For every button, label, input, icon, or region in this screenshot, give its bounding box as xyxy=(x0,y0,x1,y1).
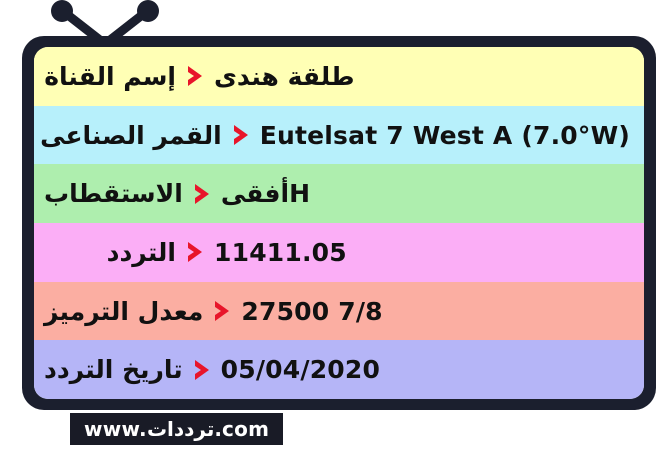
value-polarization: أفقى xyxy=(221,181,289,206)
screenshot-root: www.ترددات.com www.ترددات.com www.ترددات… xyxy=(0,0,669,451)
row-channel-name: إسم القناة طلقة هندى xyxy=(34,47,644,106)
row-frequency: التردد 11411.05 xyxy=(34,223,644,282)
value-satellite: Eutelsat 7 West A (7.0°W) xyxy=(260,123,630,148)
brand-text: www.ترددات.com xyxy=(84,417,269,441)
value-channel-name: طلقة هندى xyxy=(214,64,355,89)
value-frequency-date: 05/04/2020 xyxy=(221,357,380,382)
red-chevron-right-icon xyxy=(191,357,213,383)
tv-screen: www.ترددات.com www.ترددات.com www.ترددات… xyxy=(34,47,644,399)
red-chevron-right-icon xyxy=(230,122,252,148)
red-chevron-right-icon xyxy=(211,298,233,324)
brand-bar: www.ترددات.com xyxy=(70,413,283,445)
value-symbol-rate: 27500 7/8 xyxy=(241,299,382,324)
red-chevron-right-icon xyxy=(191,181,213,207)
label-frequency-date: تاريخ التردد xyxy=(44,357,183,382)
red-chevron-right-icon xyxy=(184,63,206,89)
row-symbol-rate: معدل الترميز 27500 7/8 xyxy=(34,282,644,341)
label-polarization: الاستقطاب xyxy=(44,181,183,206)
red-chevron-right-icon xyxy=(184,239,206,265)
label-satellite: القمر الصناعى xyxy=(44,123,222,148)
row-frequency-date: تاريخ التردد 05/04/2020 xyxy=(34,340,644,399)
row-satellite: القمر الصناعى Eutelsat 7 West A (7.0°W) xyxy=(34,106,644,165)
label-frequency: التردد xyxy=(44,240,176,265)
label-symbol-rate: معدل الترميز xyxy=(44,299,203,324)
value-polarization-code: H xyxy=(289,181,310,206)
info-rows: إسم القناة طلقة هندى القمر الصناعى xyxy=(34,47,644,399)
value-frequency: 11411.05 xyxy=(214,240,347,265)
row-polarization: الاستقطاب أفقى H xyxy=(34,164,644,223)
tv-frame: www.ترددات.com www.ترددات.com www.ترددات… xyxy=(22,36,656,410)
label-channel-name: إسم القناة xyxy=(44,64,176,89)
